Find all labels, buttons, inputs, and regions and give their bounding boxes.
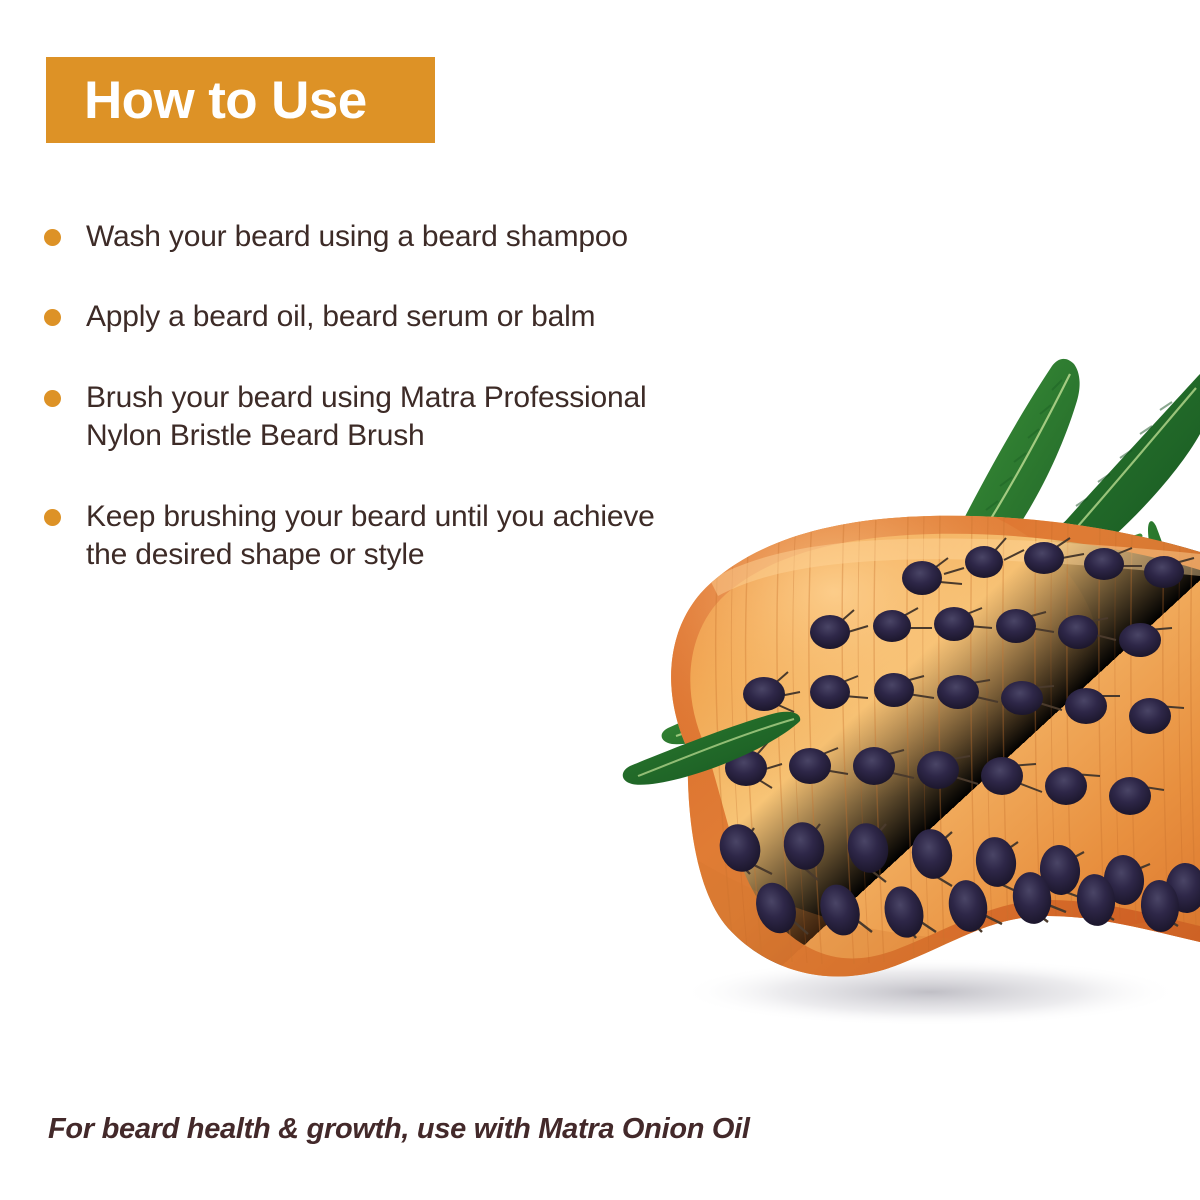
poster-canvas: How to Use Wash your beard using a beard…: [0, 0, 1200, 1200]
step-text: Wash your beard using a beard shampoo: [86, 218, 844, 256]
list-item: Wash your beard using a beard shampoo: [44, 218, 844, 256]
brush-shadow: [680, 958, 1180, 1026]
bullet-dot-icon: [44, 229, 61, 246]
bullet-dot-icon: [44, 509, 61, 526]
bullet-dot-icon: [44, 390, 61, 407]
page-title: How to Use: [84, 74, 367, 127]
footer-note: For beard health & growth, use with Matr…: [48, 1113, 750, 1146]
product-image: [600, 330, 1200, 1090]
header-band: How to Use: [46, 57, 435, 143]
bullet-dot-icon: [44, 309, 61, 326]
